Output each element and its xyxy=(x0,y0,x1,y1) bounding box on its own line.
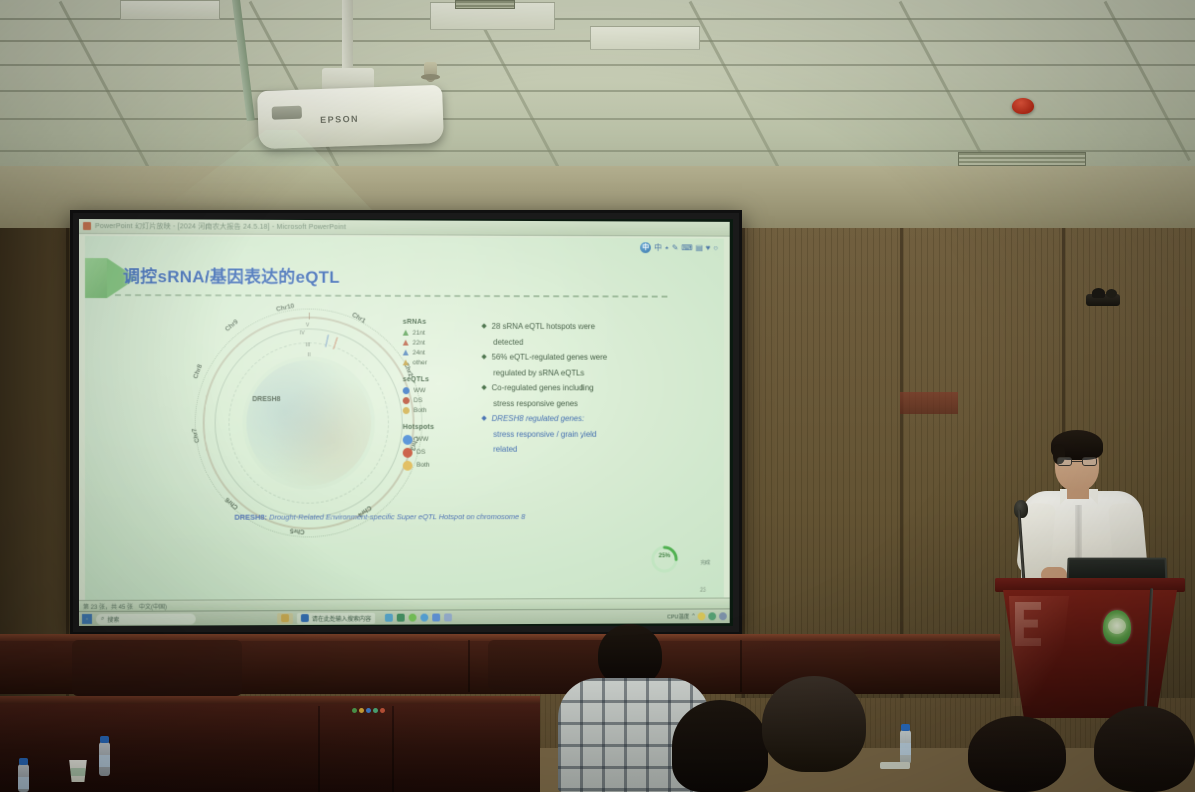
track-marker-ii: II xyxy=(308,352,311,358)
ime-language-bar[interactable]: 中 中 ٭ ✎ ⌨ ▤ ♥ ○ xyxy=(640,242,718,253)
excel-icon[interactable] xyxy=(397,614,405,622)
ceiling-vent xyxy=(958,152,1086,166)
window-title: PowerPoint 幻灯片放映 - [2024 河南农大报告 24.5.18]… xyxy=(95,221,346,232)
progress-value: 25% xyxy=(650,553,679,559)
taskbar-search-box[interactable]: ⌕ 搜索 xyxy=(96,613,196,624)
bullet-item-3: ◆ Co-regulated genes including xyxy=(481,380,677,395)
powerpoint-taskbar-icon[interactable] xyxy=(444,613,452,621)
edge-icon[interactable] xyxy=(409,614,417,622)
water-bottle-2 xyxy=(18,764,29,792)
chr-label-chr9: Chr9 xyxy=(224,318,240,333)
legend-item-hotspot-ww: WW xyxy=(403,433,472,446)
bullet-text: Co-regulated genes including xyxy=(492,380,594,395)
bullet-text: 56% eQTL-regulated genes were xyxy=(492,350,607,365)
audience-head-4 xyxy=(968,716,1066,792)
legend-item-seqtl-both: Both xyxy=(403,405,472,415)
legend-item-24nt: 24nt xyxy=(403,348,472,358)
dot-icon xyxy=(403,447,413,457)
projection-screen: PowerPoint 幻灯片放映 - [2024 河南农大报告 24.5.18]… xyxy=(70,210,742,635)
audience-head-5 xyxy=(1094,706,1195,792)
legend-heading-hotspots: Hotspots xyxy=(403,424,472,431)
slide-caption: DRESH8: Drought-Related Environment-spec… xyxy=(234,512,525,522)
shield-icon[interactable] xyxy=(698,612,706,620)
chevron-up-icon[interactable]: ^ xyxy=(692,613,695,619)
caption-label: DRESH8: xyxy=(234,513,267,522)
powerpoint-titlebar: PowerPoint 幻灯片放映 - [2024 河南农大报告 24.5.18]… xyxy=(79,219,730,237)
legend-item-seqtl-ds: DS xyxy=(403,395,472,405)
slide-canvas[interactable]: 中 中 ٭ ✎ ⌨ ▤ ♥ ○ 调控sRNA/基因表达的eQTL xyxy=(85,236,724,604)
desk-logo-icon xyxy=(352,708,385,713)
chair-back-1 xyxy=(72,640,242,696)
teams-icon[interactable] xyxy=(420,614,428,622)
audience-head-3 xyxy=(762,676,866,772)
triangle-icon xyxy=(403,359,409,365)
legend-item-22nt: 22nt xyxy=(403,338,472,348)
projector-lens-icon xyxy=(272,106,302,120)
water-bottle-3 xyxy=(900,730,911,764)
volume-icon[interactable] xyxy=(719,612,727,620)
triangle-icon xyxy=(403,340,409,346)
bullet-text-cont-2: related xyxy=(481,442,677,457)
bullet-marker-icon: ◆ xyxy=(481,380,486,395)
microphone-head-icon xyxy=(1014,500,1028,518)
wall-red-panel xyxy=(900,392,958,414)
legend-item-hotspot-ds: DS xyxy=(403,446,472,459)
search-placeholder: 搜索 xyxy=(107,614,119,623)
chr-label-chr8: Chr8 xyxy=(192,363,204,379)
ime-heart-icon[interactable]: ♥ xyxy=(706,243,711,252)
start-button-icon[interactable] xyxy=(82,614,92,624)
legend-heading-seqtls: seQTLs xyxy=(403,376,472,383)
search-icon: ⌕ xyxy=(101,615,104,622)
caption-text: Drought-Related Environment-specific Sup… xyxy=(267,512,525,521)
ime-tray-icon xyxy=(281,614,289,622)
ime-panel-icon[interactable]: ▤ xyxy=(696,243,703,252)
legend-item-other: other xyxy=(403,357,472,367)
bullet-marker-icon: ◆ xyxy=(481,350,486,365)
bullet-item-2: ◆ 56% eQTL-regulated genes were xyxy=(481,350,677,365)
slide-indicator: 第 23 张，共 45 张 xyxy=(83,601,133,610)
legend-label: DS xyxy=(416,449,425,456)
bullet-text-cont: stress responsive / grain yield xyxy=(481,427,677,442)
bullet-item-1: ◆ 28 sRNA eQTL hotspots were xyxy=(481,319,677,334)
track-marker-v: V xyxy=(306,322,309,328)
taskbar-item-active[interactable]: 请在此处输入搜索内容 xyxy=(297,612,375,623)
powerpoint-window[interactable]: PowerPoint 幻灯片放映 - [2024 河南农大报告 24.5.18]… xyxy=(79,219,730,626)
water-bottle-1 xyxy=(99,742,110,776)
progress-sub-label: 完成 xyxy=(701,559,711,566)
dot-icon xyxy=(403,407,410,414)
system-tray[interactable]: CPU温度 ^ xyxy=(667,612,727,620)
track-marker-iv: IV xyxy=(300,330,305,336)
legend-label: other xyxy=(413,359,428,366)
audience-head-2 xyxy=(672,700,768,792)
legend-item-21nt: 21nt xyxy=(403,328,472,338)
presenter-glasses-icon xyxy=(1057,457,1097,466)
bullet-marker-icon: ◆ xyxy=(481,319,486,334)
legend-label: WW xyxy=(414,387,426,394)
conference-room: EPSON PowerPoint 幻灯片放映 - [2024 河南农大报告 24… xyxy=(0,0,1195,792)
ime-keyboard-icon[interactable]: ⌨ xyxy=(681,243,692,252)
slide-page-number: 23 xyxy=(700,588,707,594)
title-divider xyxy=(115,294,667,297)
slide-title: 调控sRNA/基因表达的eQTL xyxy=(123,262,340,288)
taskbar-task-label: 请在此处输入搜索内容 xyxy=(312,613,371,622)
audience-head-1 xyxy=(598,624,662,686)
podium-letter-graphic xyxy=(1015,602,1041,646)
triangle-icon xyxy=(403,350,409,356)
explorer-icon xyxy=(301,614,309,622)
ime-punctuation-icon[interactable]: ٭ xyxy=(665,243,669,252)
legend-item-seqtl-ww: WW xyxy=(403,385,472,395)
dot-icon xyxy=(403,397,410,404)
presenter-hair xyxy=(1051,430,1103,460)
ime-chinese-icon[interactable]: 中 xyxy=(654,242,662,253)
bullet-item-4: ◆ DRESH8 regulated genes: xyxy=(481,411,677,426)
dot-icon xyxy=(403,387,410,394)
bullet-text-cont: detected xyxy=(481,335,677,350)
dot-icon xyxy=(403,460,413,470)
legend-item-hotspot-both: Both xyxy=(403,459,472,472)
status-language: 中文(中国) xyxy=(139,601,167,610)
ceiling xyxy=(0,0,1195,178)
chrome-icon[interactable] xyxy=(385,614,393,622)
ime-pen-icon[interactable]: ✎ xyxy=(672,243,679,252)
bullet-list: ◆ 28 sRNA eQTL hotspots were detected ◆ … xyxy=(481,319,677,457)
security-camera-icon xyxy=(1082,288,1124,310)
legend-label: WW xyxy=(416,436,428,443)
projector-brand-label: EPSON xyxy=(320,114,359,125)
track-marker-iii: III xyxy=(306,342,310,348)
dresh8-annotation: DRESH8 xyxy=(252,396,280,403)
chr-label-chr5: Chr5 xyxy=(290,527,305,535)
ceiling-vent-2 xyxy=(455,0,515,9)
paper-pad xyxy=(880,762,910,769)
circos-plot: Chr1 Chr2 Chr3 Chr4 Chr5 Chr6 Chr7 Chr8 … xyxy=(195,308,423,537)
taskbar-item-ime[interactable] xyxy=(277,613,293,624)
legend-label: 21nt xyxy=(413,329,425,336)
bullet-text: 28 sRNA eQTL hotspots were xyxy=(492,319,595,334)
legend-label: Both xyxy=(414,407,427,414)
sprinkler-head-icon xyxy=(424,62,437,82)
powerpoint-app-icon xyxy=(83,222,91,230)
legend-label: 24nt xyxy=(413,349,425,356)
ime-mode-badge[interactable]: 中 xyxy=(640,242,651,253)
podium-top-surface xyxy=(995,578,1185,592)
word-icon[interactable] xyxy=(432,614,440,622)
bullet-text-cont: stress responsive genes xyxy=(481,396,677,411)
progress-ring-badge: 25% xyxy=(650,544,679,574)
bullet-text-cont: regulated by sRNA eQTLs xyxy=(481,365,677,380)
ceiling-projector: EPSON xyxy=(257,85,444,149)
legend-label: Both xyxy=(416,462,429,469)
legend-label: 22nt xyxy=(413,339,425,346)
fire-alarm-dome-icon xyxy=(1012,98,1034,114)
bullet-marker-icon: ◆ xyxy=(481,411,486,426)
plot-legend: sRNAs 21nt 22nt 24nt xyxy=(403,319,472,472)
legend-heading-srnas: sRNAs xyxy=(403,319,472,326)
dot-icon xyxy=(403,434,413,444)
cpu-temp-label: CPU温度 xyxy=(667,612,689,620)
triangle-icon xyxy=(403,330,409,336)
desk-top-front xyxy=(0,696,540,704)
podium-emblem-icon xyxy=(1103,610,1131,644)
projector-mount-pole xyxy=(342,0,353,72)
legend-label: DS xyxy=(414,397,423,404)
ime-settings-icon[interactable]: ○ xyxy=(713,243,718,252)
title-accent-block xyxy=(85,258,107,298)
network-icon[interactable] xyxy=(708,612,716,620)
bullet-text: DRESH8 regulated genes: xyxy=(492,411,584,426)
